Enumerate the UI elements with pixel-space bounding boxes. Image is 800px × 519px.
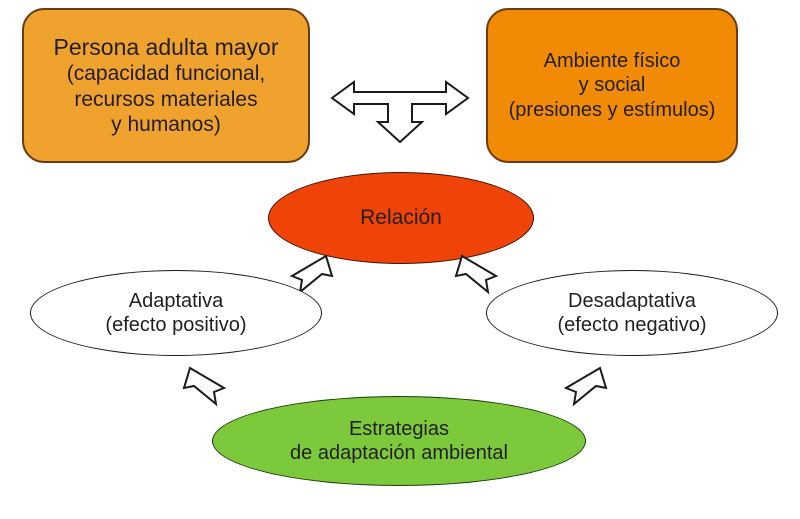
- node-adaptativa-line-2: (efecto positivo): [105, 313, 246, 337]
- node-ambiente-line-3: (presiones y estímulos): [509, 98, 716, 122]
- node-adaptativa-label: Adaptativa (efecto positivo): [105, 289, 246, 338]
- node-estrategias-line-2: de adaptación ambiental: [290, 441, 508, 465]
- node-persona-adulta-mayor-label: Persona adulta mayor (capacidad funciona…: [53, 33, 278, 138]
- node-estrategias-line-1: Estrategias: [290, 417, 508, 441]
- node-persona-line-4: y humanos): [53, 112, 278, 138]
- node-persona-line-1: Persona adulta mayor: [53, 33, 278, 61]
- node-adaptativa-line-1: Adaptativa: [105, 289, 246, 313]
- node-ambiente-line-2: y social: [509, 73, 716, 97]
- node-persona-line-3: recursos materiales: [53, 87, 278, 113]
- node-ambiente-fisico-y-social[interactable]: Ambiente físico y social (presiones y es…: [486, 8, 738, 163]
- node-estrategias-de-adaptacion-ambiental[interactable]: Estrategias de adaptación ambiental: [212, 396, 586, 486]
- arrow-down-left-icon: [562, 362, 610, 410]
- node-relacion-label: Relación: [360, 205, 442, 231]
- node-persona-adulta-mayor[interactable]: Persona adulta mayor (capacidad funciona…: [22, 8, 310, 163]
- node-persona-line-2: (capacidad funcional,: [53, 61, 278, 87]
- node-adaptativa[interactable]: Adaptativa (efecto positivo): [30, 270, 322, 356]
- node-ambiente-line-1: Ambiente físico: [509, 49, 716, 73]
- arrow-down-right-icon: [180, 362, 228, 410]
- node-relacion-line-1: Relación: [360, 205, 442, 231]
- arrow-left-right-down-icon: [330, 72, 470, 147]
- diagram-canvas: Persona adulta mayor (capacidad funciona…: [0, 0, 800, 519]
- node-estrategias-label: Estrategias de adaptación ambiental: [290, 417, 508, 466]
- node-desadaptativa-line-1: Desadaptativa: [558, 289, 707, 313]
- node-desadaptativa[interactable]: Desadaptativa (efecto negativo): [486, 270, 778, 356]
- node-ambiente-label: Ambiente físico y social (presiones y es…: [509, 49, 716, 122]
- node-desadaptativa-label: Desadaptativa (efecto negativo): [558, 289, 707, 338]
- arrow-down-right-icon: [452, 250, 500, 298]
- node-desadaptativa-line-2: (efecto negativo): [558, 313, 707, 337]
